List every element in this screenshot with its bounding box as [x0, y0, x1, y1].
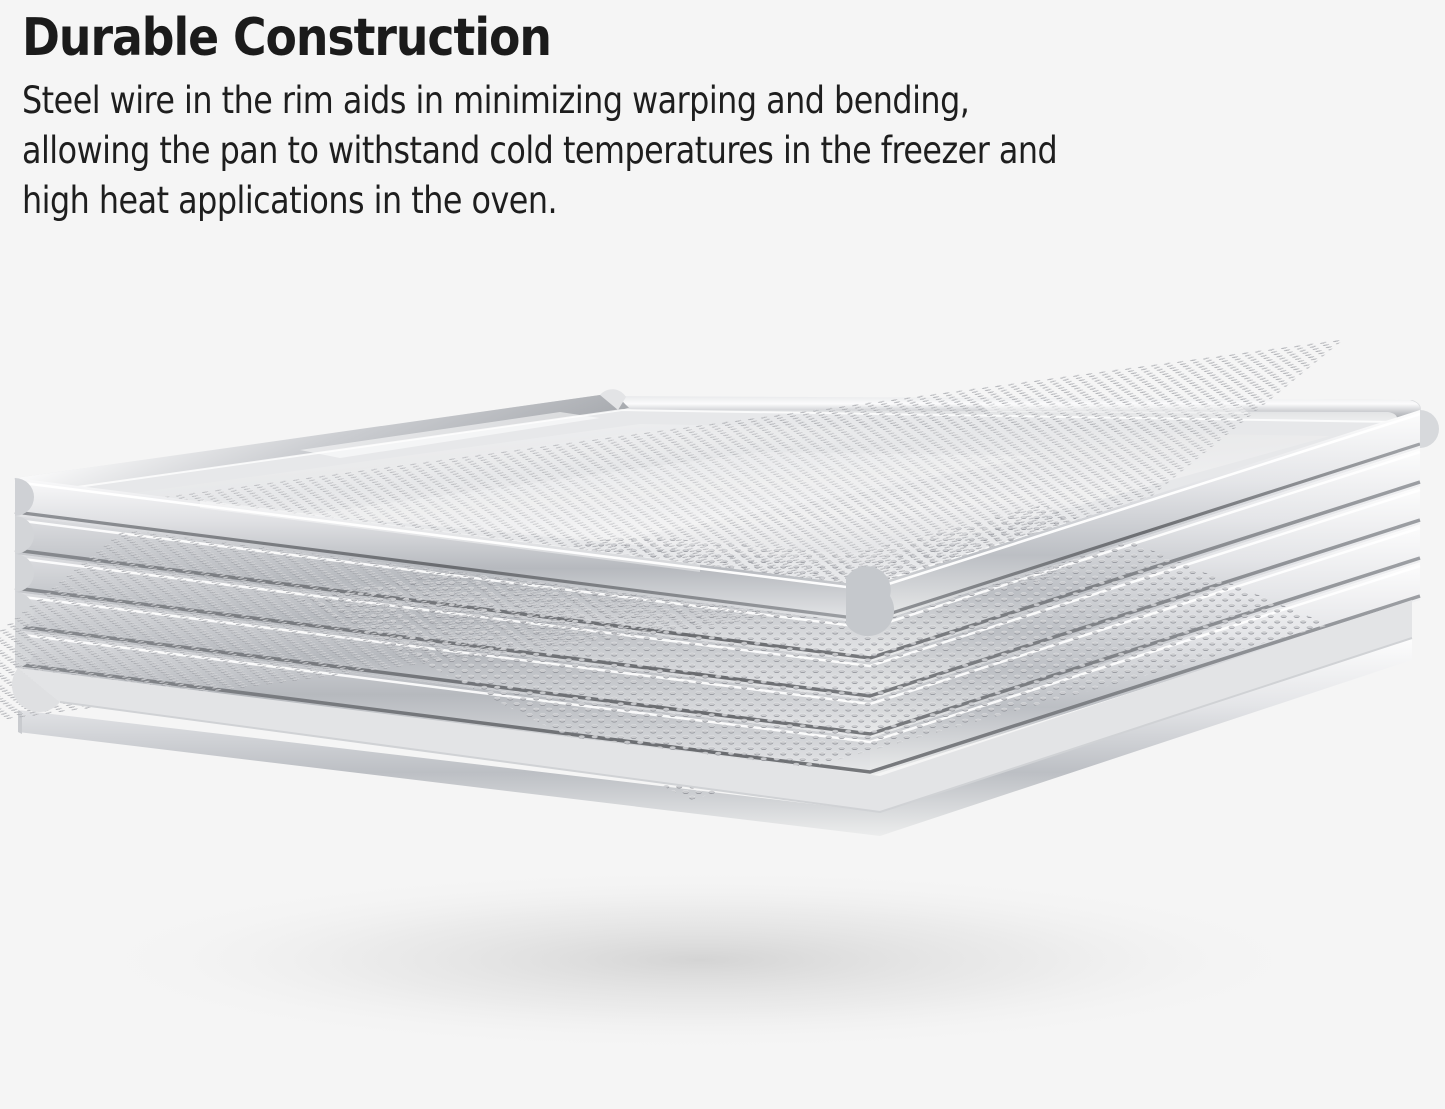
body-line-2: allowing the pan to withstand cold tempe…	[22, 126, 1312, 176]
page-title: Durable Construction	[22, 10, 1166, 66]
body-line-3: high heat applications in the oven.	[22, 176, 1312, 226]
product-feature-panel: Durable Construction Steel wire in the r…	[0, 0, 1445, 1109]
body-line-1: Steel wire in the rim aids in minimizing…	[22, 76, 1312, 126]
body-copy: Steel wire in the rim aids in minimizing…	[22, 76, 1312, 226]
contact-shadow	[80, 868, 1320, 1052]
product-image	[0, 300, 1445, 1109]
pan-corner-right	[1420, 410, 1439, 448]
sheet-pan-stack-illustration	[0, 300, 1445, 1109]
copy-block: Durable Construction Steel wire in the r…	[22, 10, 1322, 226]
